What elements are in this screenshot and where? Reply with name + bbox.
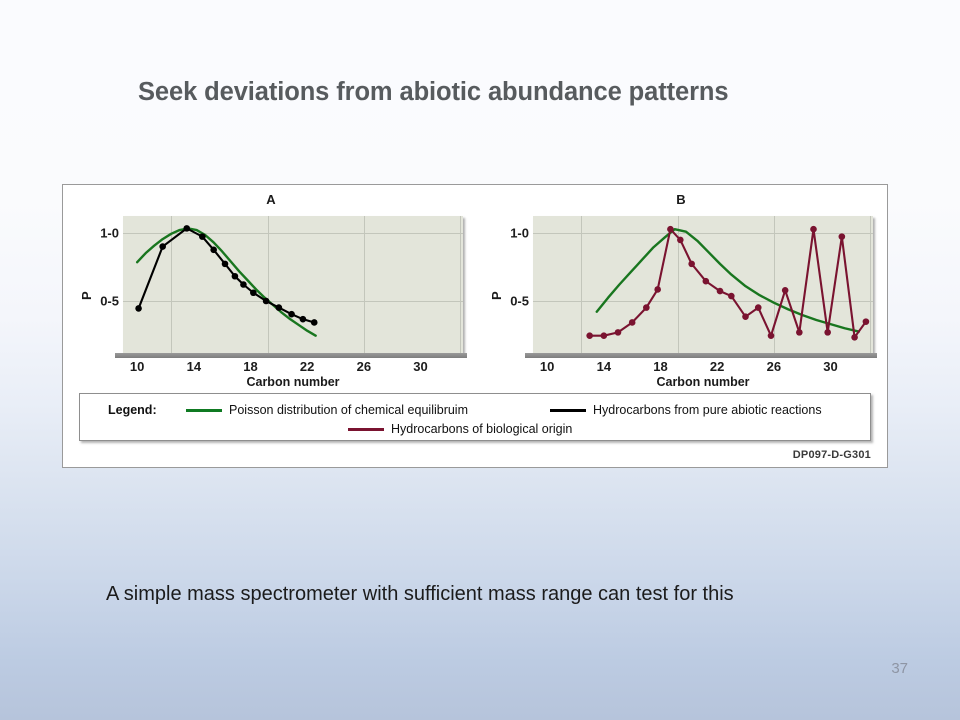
x-tick-label: 14 [597,359,611,374]
legend-label-poisson: Poisson distribution of chemical equilib… [229,403,468,417]
data-point [183,225,190,232]
data-point [300,316,307,323]
panel-a-x-axis-title: Carbon number [123,375,463,389]
panel-b-y-axis-title: P [489,291,504,300]
data-point [263,298,270,305]
data-point [159,243,166,250]
data-point [782,287,789,294]
data-point [863,318,870,325]
data-point [688,261,695,268]
page-number: 37 [891,660,908,677]
data-point [601,332,608,339]
x-tick-label: 18 [653,359,667,374]
legend-swatch-black [550,409,586,412]
legend-entry-abiotic: Hydrocarbons from pure abiotic reactions [550,403,822,417]
data-point [810,226,817,233]
legend-label-biological: Hydrocarbons of biological origin [391,422,572,436]
data-point [629,319,636,326]
x-tick-label: 26 [357,359,371,374]
data-point [839,233,846,240]
data-point [703,278,710,285]
data-point [232,273,239,280]
data-point [728,293,735,300]
panel-a-ytick-0: 0-5 [100,294,119,309]
x-tick-label: 14 [187,359,201,374]
data-point [796,329,803,336]
panel-a-plot-area [123,216,463,353]
data-point [240,281,247,288]
panel-b-title: B [481,192,881,207]
data-point [677,237,684,244]
series-line [139,228,315,322]
panel-a-y-axis-title: P [79,291,94,300]
panel-b-x-axis-bar [525,353,877,358]
panel-a-ytick-1: 1-0 [100,226,119,241]
panel-b-x-axis-title: Carbon number [533,375,873,389]
chart-legend: Legend: Poisson distribution of chemical… [79,393,871,441]
data-point [199,233,206,240]
legend-title: Legend: [108,403,157,417]
x-tick-label: 30 [413,359,427,374]
figure-code: DP097-D-G301 [793,449,871,461]
data-point [210,247,217,254]
legend-swatch-green [186,409,222,412]
panel-a-x-axis-bar [115,353,467,358]
data-point [250,289,257,296]
panel-b-plot-area [533,216,873,353]
legend-swatch-maroon [348,428,384,431]
chart-panels: A P 1-0 0-5 101418222630 Carbon [63,185,887,393]
data-point [222,261,229,268]
x-tick-label: 30 [823,359,837,374]
page-title: Seek deviations from abiotic abundance p… [138,78,858,107]
legend-label-abiotic: Hydrocarbons from pure abiotic reactions [593,403,822,417]
x-tick-label: 22 [300,359,314,374]
figure-frame: A P 1-0 0-5 101418222630 Carbon [62,184,888,468]
x-tick-label: 18 [243,359,257,374]
data-point [135,305,142,312]
data-point [717,288,724,295]
data-point [276,304,283,311]
data-point [667,226,674,233]
data-point [755,304,762,311]
slide-caption: A simple mass spectrometer with sufficie… [106,583,734,606]
data-point [768,332,775,339]
data-point [824,329,831,336]
panel-a-title: A [71,192,471,207]
x-tick-label: 10 [130,359,144,374]
data-point [654,286,661,293]
x-tick-label: 22 [710,359,724,374]
data-point [851,334,858,341]
data-point [288,311,295,318]
chart-panel-a: A P 1-0 0-5 101418222630 Carbon [71,185,471,393]
panel-b-ytick-0: 0-5 [510,294,529,309]
panel-a-y-axis: P 1-0 0-5 [71,216,119,353]
legend-entry-biological: Hydrocarbons of biological origin [348,422,572,436]
panel-b-plot [533,216,873,353]
data-point [615,329,622,336]
panel-b-ytick-1: 1-0 [510,226,529,241]
data-point [586,332,593,339]
data-point [311,319,318,326]
x-tick-label: 10 [540,359,554,374]
panel-a-plot [123,216,463,353]
data-point [742,313,749,320]
legend-entry-poisson: Poisson distribution of chemical equilib… [186,403,468,417]
x-tick-label: 26 [767,359,781,374]
data-point [643,304,650,311]
panel-b-y-axis: P 1-0 0-5 [481,216,529,353]
chart-panel-b: B P 1-0 0-5 101418222630 Carbon [481,185,881,393]
